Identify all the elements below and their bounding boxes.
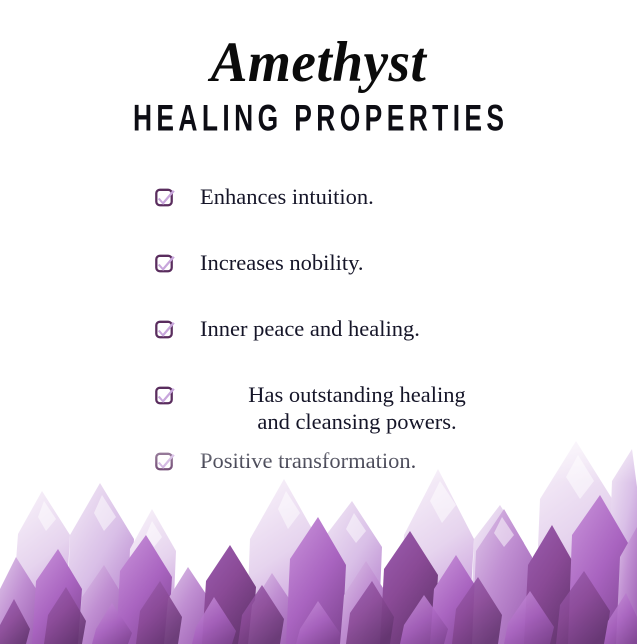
checked-checkbox-icon — [155, 319, 176, 340]
poster-canvas: Amethyst HEALING PROPERTIES Enhances int… — [0, 0, 637, 644]
list-item: Increases nobility. — [0, 249, 637, 293]
amethyst-crystal-cluster — [0, 439, 637, 644]
list-item-label: Increases nobility. — [155, 249, 535, 276]
list-item: Enhances intuition. — [0, 183, 637, 227]
list-item-label: Has outstanding healing and cleansing po… — [155, 381, 535, 435]
page-subtitle: HEALING PROPERTIES — [64, 99, 574, 136]
list-item-row: Enhances intuition. — [155, 183, 535, 210]
list-item-row: Increases nobility. — [155, 249, 535, 276]
list-item: Inner peace and healing. — [0, 315, 637, 359]
list-item: Has outstanding healing and cleansing po… — [0, 381, 637, 435]
list-item-row: Has outstanding healing and cleansing po… — [155, 381, 535, 435]
list-item-label: Inner peace and healing. — [155, 315, 535, 342]
checked-checkbox-icon — [155, 253, 176, 274]
checked-checkbox-icon — [155, 187, 176, 208]
title-block: Amethyst HEALING PROPERTIES — [0, 34, 637, 134]
page-title: Amethyst — [10, 34, 628, 91]
list-item-row: Inner peace and healing. — [155, 315, 535, 342]
checked-checkbox-icon — [155, 385, 176, 406]
list-item-label: Enhances intuition. — [155, 183, 535, 210]
